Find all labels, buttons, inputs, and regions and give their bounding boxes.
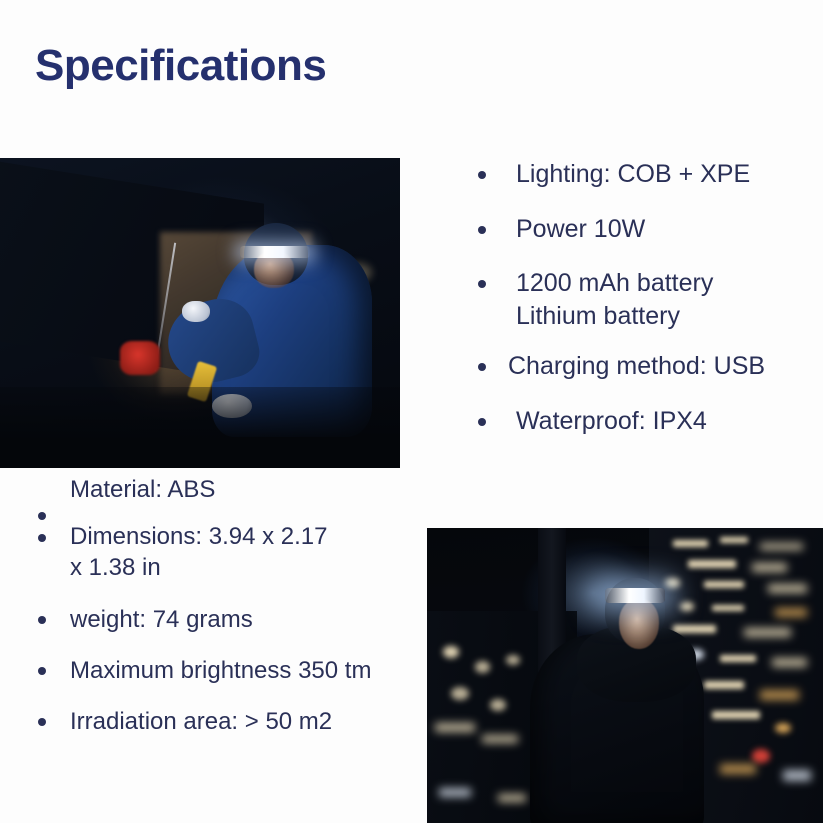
window-light [688, 560, 736, 567]
runner-face [619, 599, 659, 649]
window-light [482, 735, 518, 744]
list-item: weight: 74 grams [36, 604, 431, 635]
mechanic-glove-upper [182, 301, 210, 323]
engine-red-part [120, 341, 160, 375]
bullet-icon [38, 512, 46, 520]
spec-list-left: Material: ABS Dimensions: 3.94 x 2.17 x … [36, 510, 431, 757]
spec-text: Dimensions: 3.94 x 2.17 x 1.38 in [36, 521, 431, 583]
spec-text: 1200 mAh battery Lithium battery [474, 267, 814, 332]
spec-list-right: Lighting: COB + XPE Power 10W 1200 mAh b… [474, 158, 814, 459]
spec-text: Material: ABS [36, 474, 431, 505]
window-light [760, 543, 804, 551]
window-light [752, 563, 788, 571]
bullet-icon [478, 226, 486, 234]
list-item: Irradiation area: > 50 m2 [36, 706, 431, 737]
bullet-icon [478, 280, 486, 288]
window-light [435, 723, 475, 732]
bullet-icon [478, 418, 486, 426]
window-light [490, 699, 506, 711]
spec-text: Charging method: USB [474, 350, 814, 383]
headlamp-glow-icon [240, 246, 310, 257]
window-light [439, 788, 471, 797]
bullet-icon [38, 534, 46, 542]
spec-text: Waterproof: IPX4 [474, 405, 814, 438]
window-light [775, 608, 807, 617]
traffic-light [752, 749, 770, 762]
window-light [775, 723, 791, 733]
page-title: Specifications [35, 42, 326, 90]
window-light [760, 690, 800, 699]
window-light [712, 605, 744, 611]
list-item: 1200 mAh battery Lithium battery [474, 267, 814, 332]
bullet-icon [38, 616, 46, 624]
list-item: Power 10W [474, 213, 814, 246]
list-item: Waterproof: IPX4 [474, 405, 814, 438]
window-light [720, 764, 756, 774]
list-item: Dimensions: 3.94 x 2.17 x 1.38 in [36, 521, 431, 583]
window-light [673, 540, 709, 547]
engine-shadow [0, 387, 400, 468]
headlamp-glow-icon [605, 588, 664, 603]
window-light [768, 584, 808, 593]
spec-text: Power 10W [474, 213, 814, 246]
spec-text: Lighting: COB + XPE [474, 158, 814, 191]
list-item: Maximum brightness 350 tm [36, 655, 431, 686]
list-item: Lighting: COB + XPE [474, 158, 814, 191]
window-light [443, 646, 459, 658]
window-light [783, 770, 811, 781]
photo-runner-headlamp-city [427, 528, 823, 823]
window-light [720, 537, 748, 543]
window-light [673, 625, 717, 632]
window-light [720, 655, 756, 662]
bullet-icon [478, 171, 486, 179]
window-light [475, 661, 491, 673]
spec-text: weight: 74 grams [36, 604, 431, 635]
window-light [712, 711, 760, 719]
window-light [744, 628, 792, 636]
window-light [451, 687, 469, 700]
list-item: Material: ABS [36, 474, 431, 505]
window-light [772, 658, 808, 667]
bullet-icon [478, 363, 486, 371]
photo-mechanic-headlamp [0, 158, 400, 468]
window-light [704, 681, 744, 689]
spec-text: Irradiation area: > 50 m2 [36, 706, 431, 737]
spec-text: Maximum brightness 350 tm [36, 655, 431, 686]
window-light [498, 794, 526, 803]
list-item: Charging method: USB [474, 350, 814, 383]
window-light [704, 581, 744, 588]
specifications-slide: Specifications Lighting: COB + XPE Power… [0, 0, 823, 823]
